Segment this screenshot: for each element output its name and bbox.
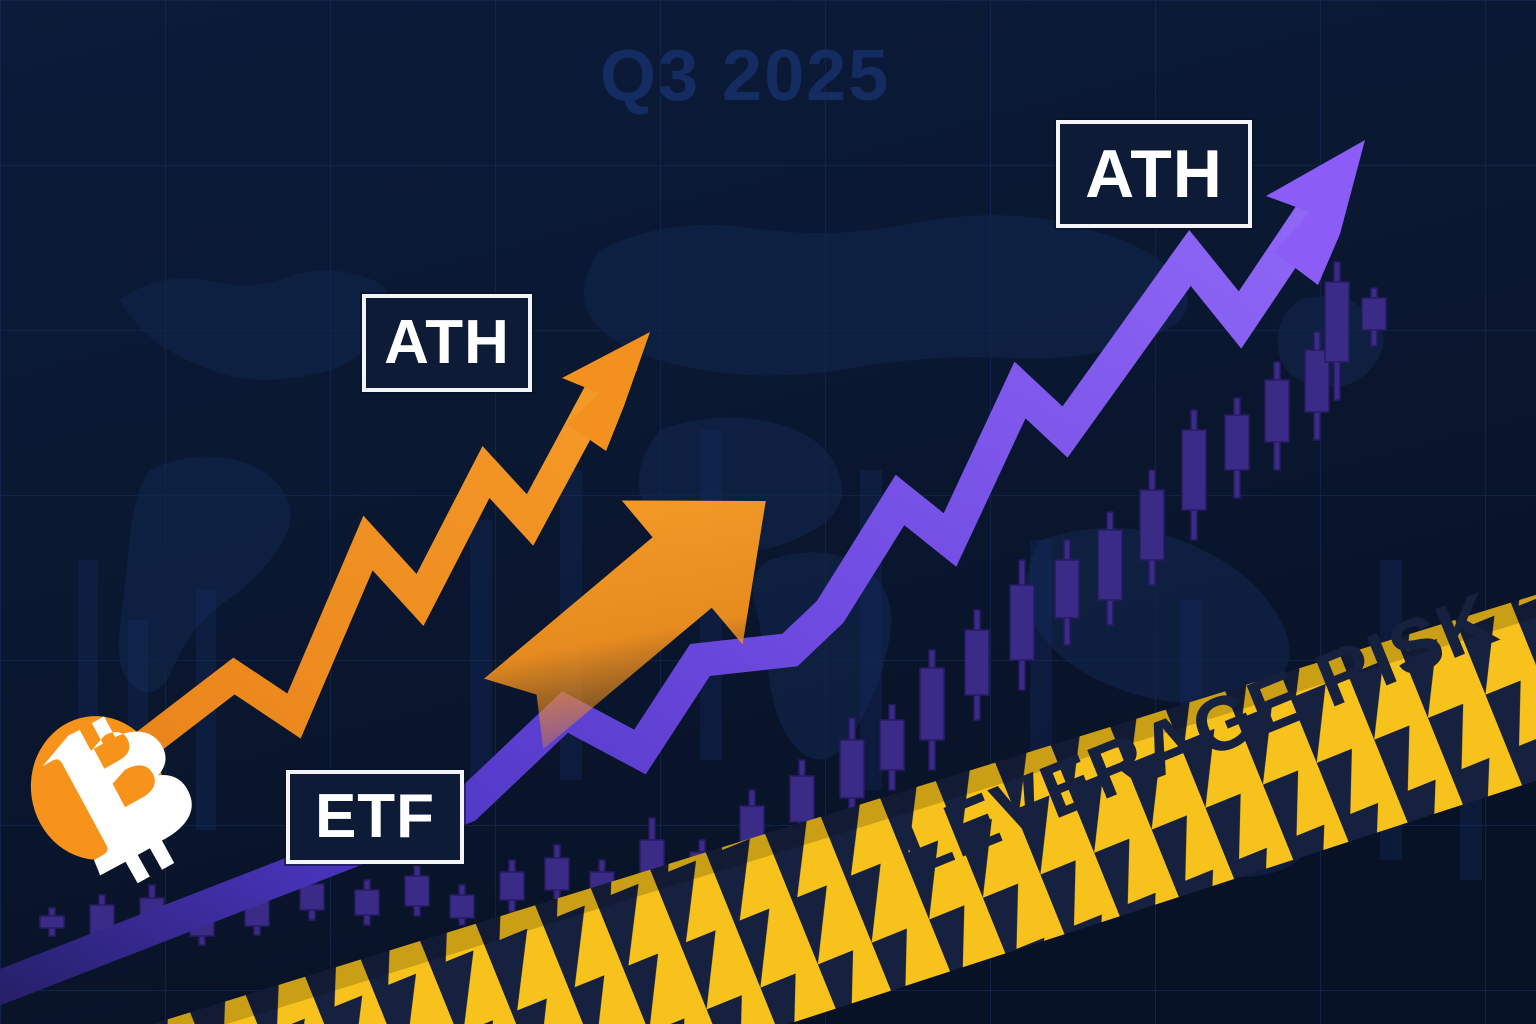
ath-label-right-text: ATH [1085, 140, 1223, 208]
ath-label-right[interactable]: ATH [1056, 120, 1252, 228]
ath-label-left-text: ATH [384, 312, 510, 374]
etf-label[interactable]: ETF [286, 770, 464, 864]
poster-canvas: LEVERAGE RISK Q3 2025 ATH ATH ETF [0, 0, 1536, 1024]
bitcoin-badge[interactable] [0, 0, 1536, 1024]
ath-label-left[interactable]: ATH [362, 294, 532, 392]
watermark-title: Q3 2025 [600, 40, 890, 112]
etf-label-text: ETF [315, 786, 435, 848]
